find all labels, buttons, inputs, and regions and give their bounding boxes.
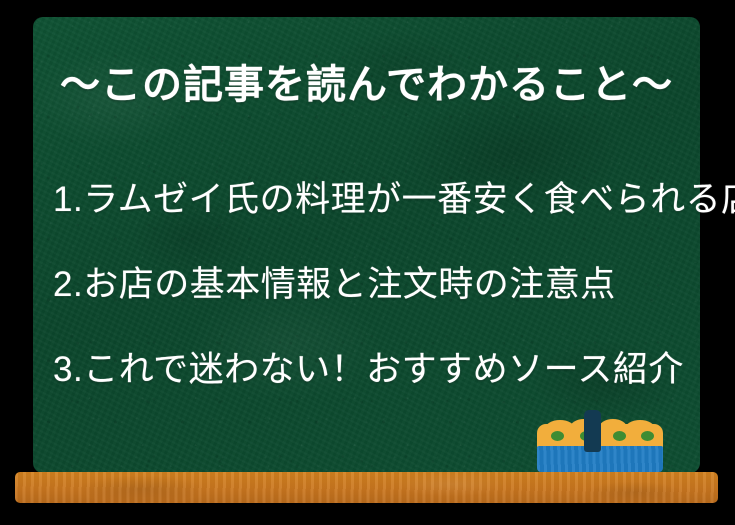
list-item: 2.お店の基本情報と注文時の注意点: [53, 267, 703, 302]
list-item: 1.ラムゼイ氏の料理が一番安く食べられる店: [53, 182, 703, 217]
takeaway-list: 1.ラムゼイ氏の料理が一番安く食べられる店 2.お店の基本情報と注文時の注意点 …: [53, 182, 703, 387]
chalk-ledge: [15, 472, 718, 503]
flower-planter-icon: [533, 410, 667, 474]
planter-handle-icon: [584, 410, 601, 452]
page-title: 〜この記事を読んでわかること〜: [33, 62, 700, 108]
flower-center-icon: [551, 431, 564, 441]
list-item: 3.これで迷わない！おすすめソース紹介: [53, 352, 703, 387]
flower-center-icon: [641, 431, 654, 441]
flower-center-icon: [613, 431, 626, 441]
blackboard-graphic: 〜この記事を読んでわかること〜 1.ラムゼイ氏の料理が一番安く食べられる店 2.…: [0, 0, 735, 525]
